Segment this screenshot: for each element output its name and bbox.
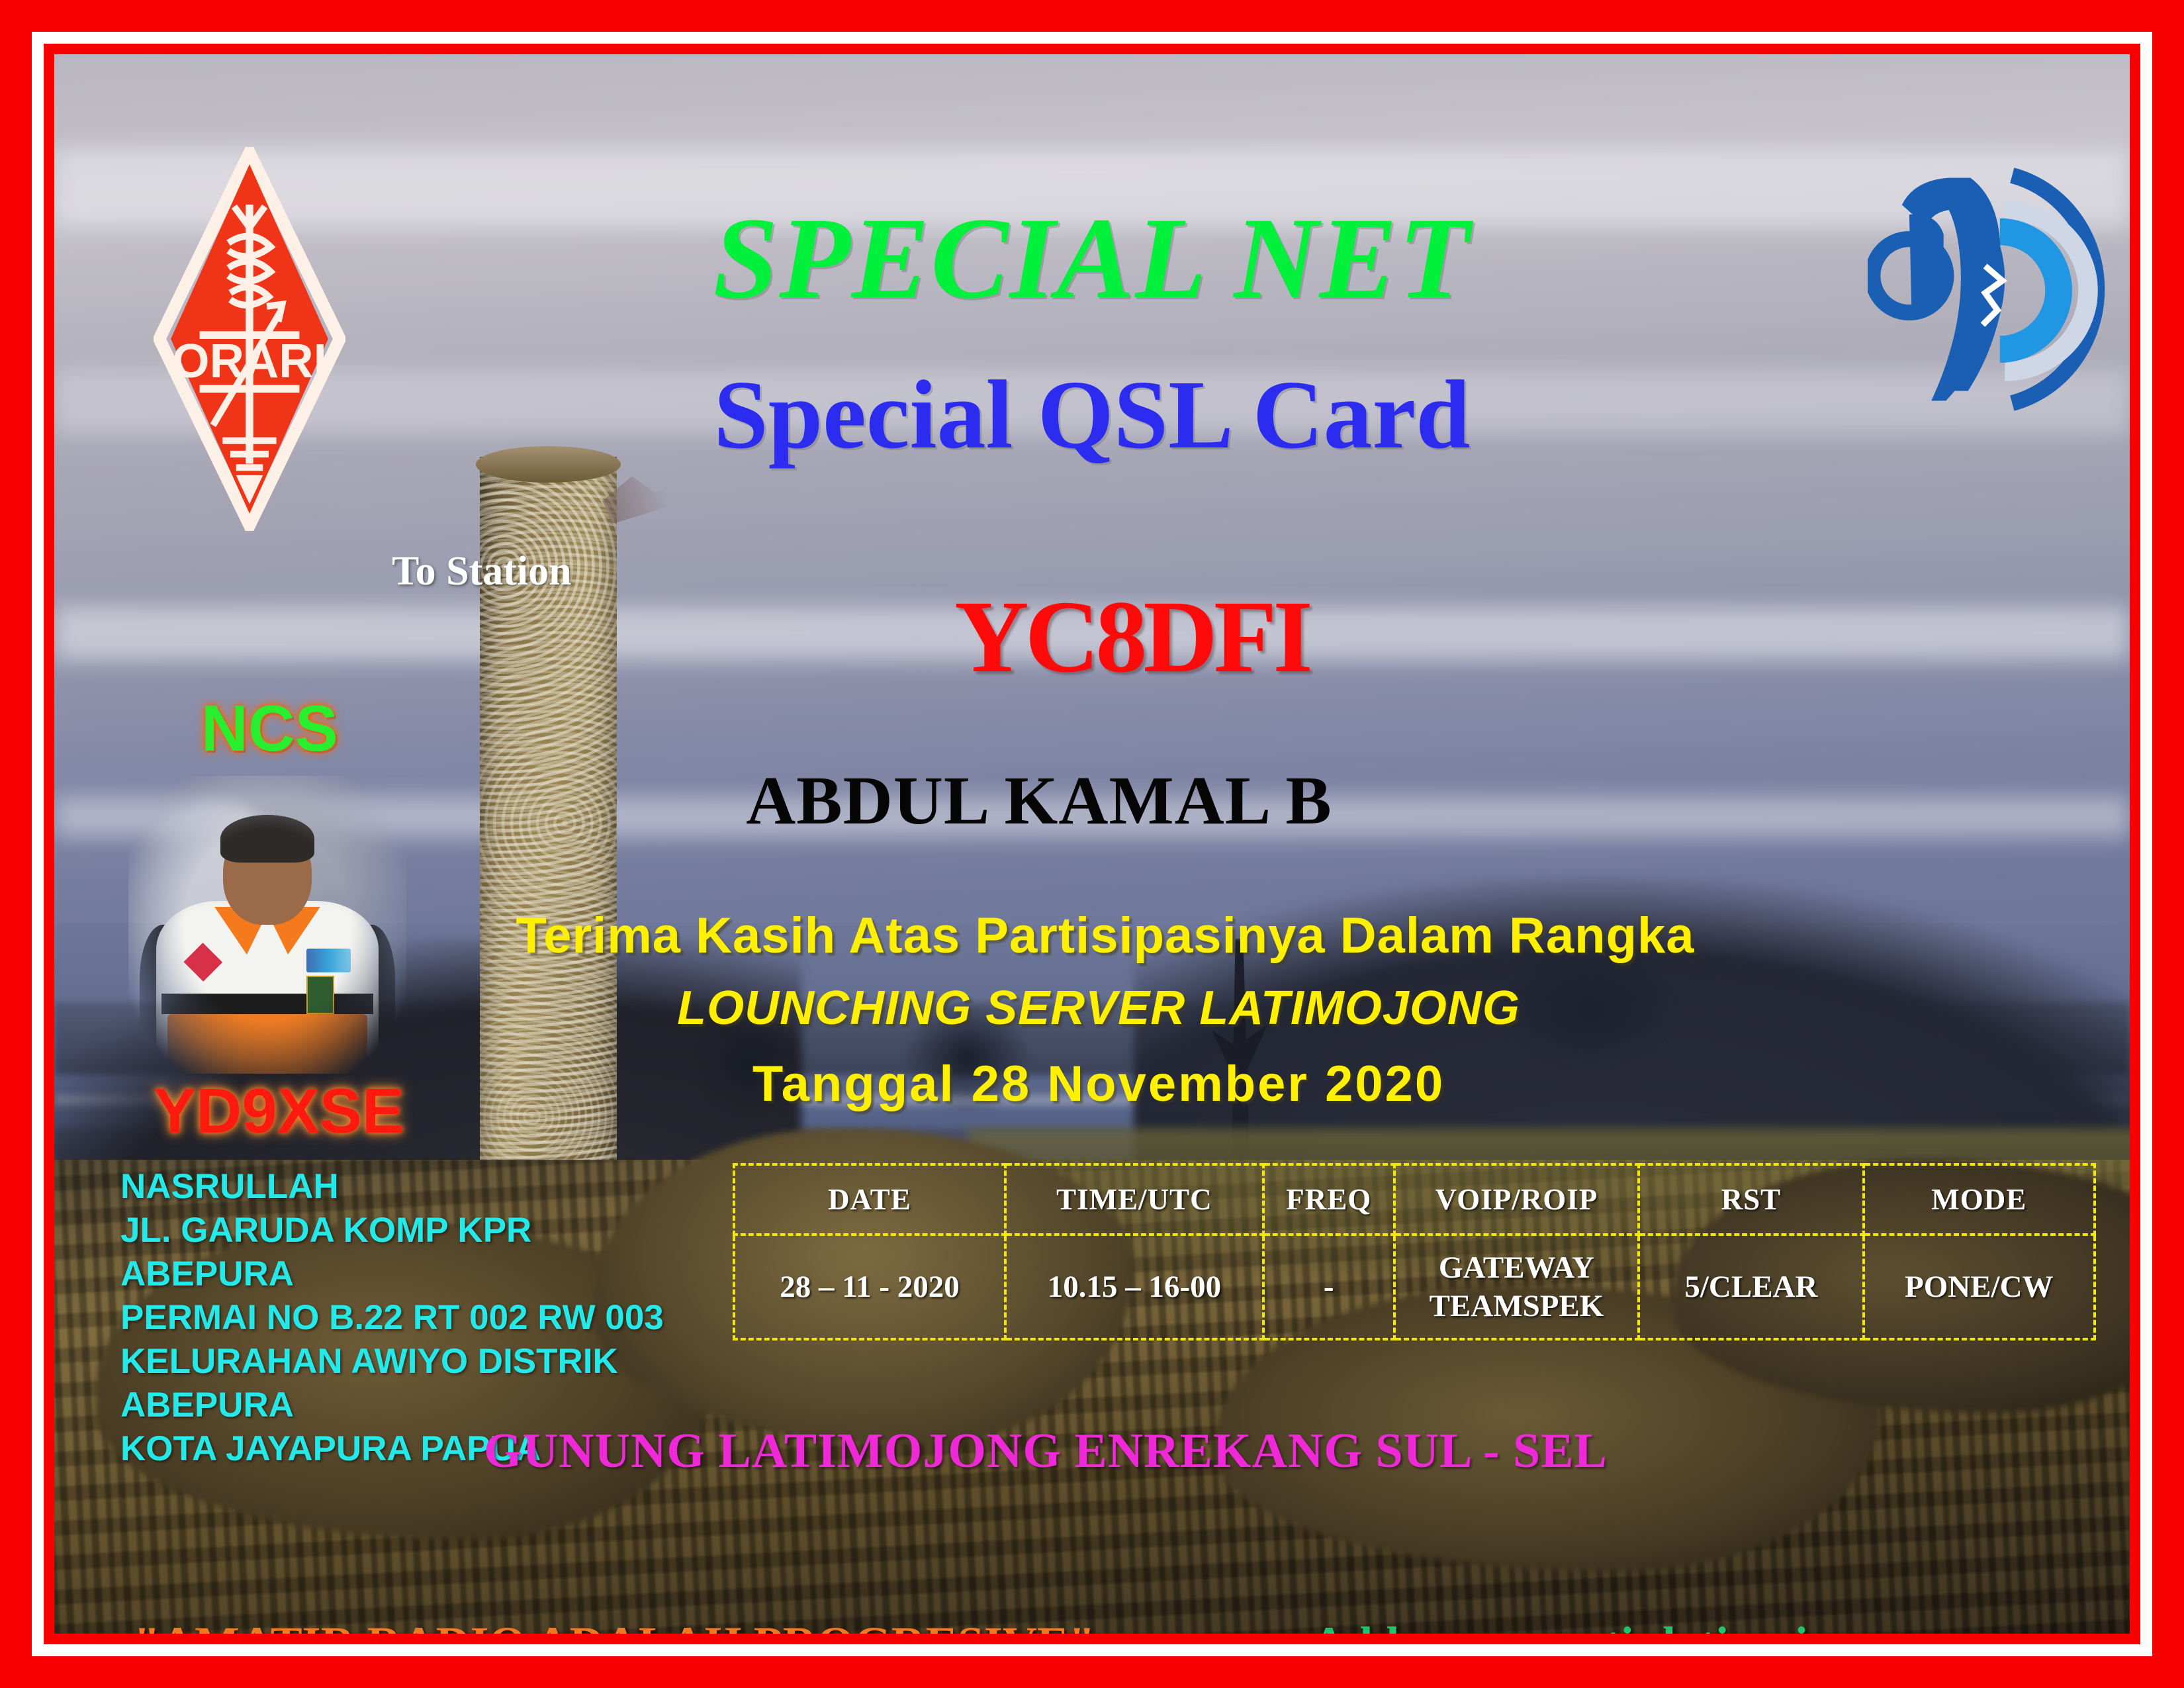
thanks-line: Terima Kasih Atas Partisipasinya Dalam R… [68,907,2130,964]
voip-roip-line-2: TEAMSPEK [1430,1289,1604,1323]
address-line: PERMAI NO B.22 RT 002 RW 003 [120,1296,664,1340]
operator-name: ABDUL KAMAL B [54,761,2077,840]
event-line: LOUNCHING SERVER LATIMOJONG [61,981,2130,1035]
cell-rst: 5/CLEAR [1639,1235,1863,1339]
column-header-mode: MODE [1864,1164,2095,1235]
web-address-line: Address : amatir.latimojong.com [1312,1617,1979,1634]
cell-date: 28 – 11 - 2020 [734,1235,1005,1339]
column-header-voip-roip: VOIP/ROIP [1394,1164,1639,1235]
qso-details-table: DATE TIME/UTC FREQ VOIP/ROIP RST MODE 28… [733,1163,2096,1340]
cell-mode: PONE/CW [1864,1235,2095,1339]
table-row: 28 – 11 - 2020 10.15 – 16-00 - GATEWAY T… [734,1235,2095,1339]
cell-freq: - [1263,1235,1394,1339]
address-line: ABEPURA [120,1252,664,1296]
cell-voip-roip: GATEWAY TEAMSPEK [1394,1235,1639,1339]
address-line: NASRULLAH [120,1165,664,1209]
card-subtitle: Special QSL Card [54,359,2130,471]
qsl-card: ORARI [0,0,2184,1688]
column-header-rst: RST [1639,1164,1863,1235]
location-line: GUNUNG LATIMOJONG ENREKANG SUL - SEL [54,1423,2083,1479]
table-header-row: DATE TIME/UTC FREQ VOIP/ROIP RST MODE [734,1164,2095,1235]
ncs-label: NCS [201,691,338,766]
page-title: SPECIAL NET [54,192,2130,326]
address-line: ABEPURA [120,1383,664,1427]
card-photo-area: ORARI [54,54,2130,1634]
voip-roip-line-1: GATEWAY [1439,1250,1594,1285]
address-line: KELURAHAN AWIYO DISTRIK [120,1340,664,1383]
column-header-date: DATE [734,1164,1005,1235]
column-header-freq: FREQ [1263,1164,1394,1235]
event-date-line: Tanggal 28 November 2020 [61,1055,2130,1113]
motto-text: "AMATIR RADIO ADALAH PROGRESIVE" [134,1617,1095,1634]
station-callsign: YC8DFI [94,577,2130,696]
column-header-time: TIME/UTC [1005,1164,1263,1235]
address-line: JL. GARUDA KOMP KPR [120,1209,664,1252]
cell-time: 10.15 – 16-00 [1005,1235,1263,1339]
